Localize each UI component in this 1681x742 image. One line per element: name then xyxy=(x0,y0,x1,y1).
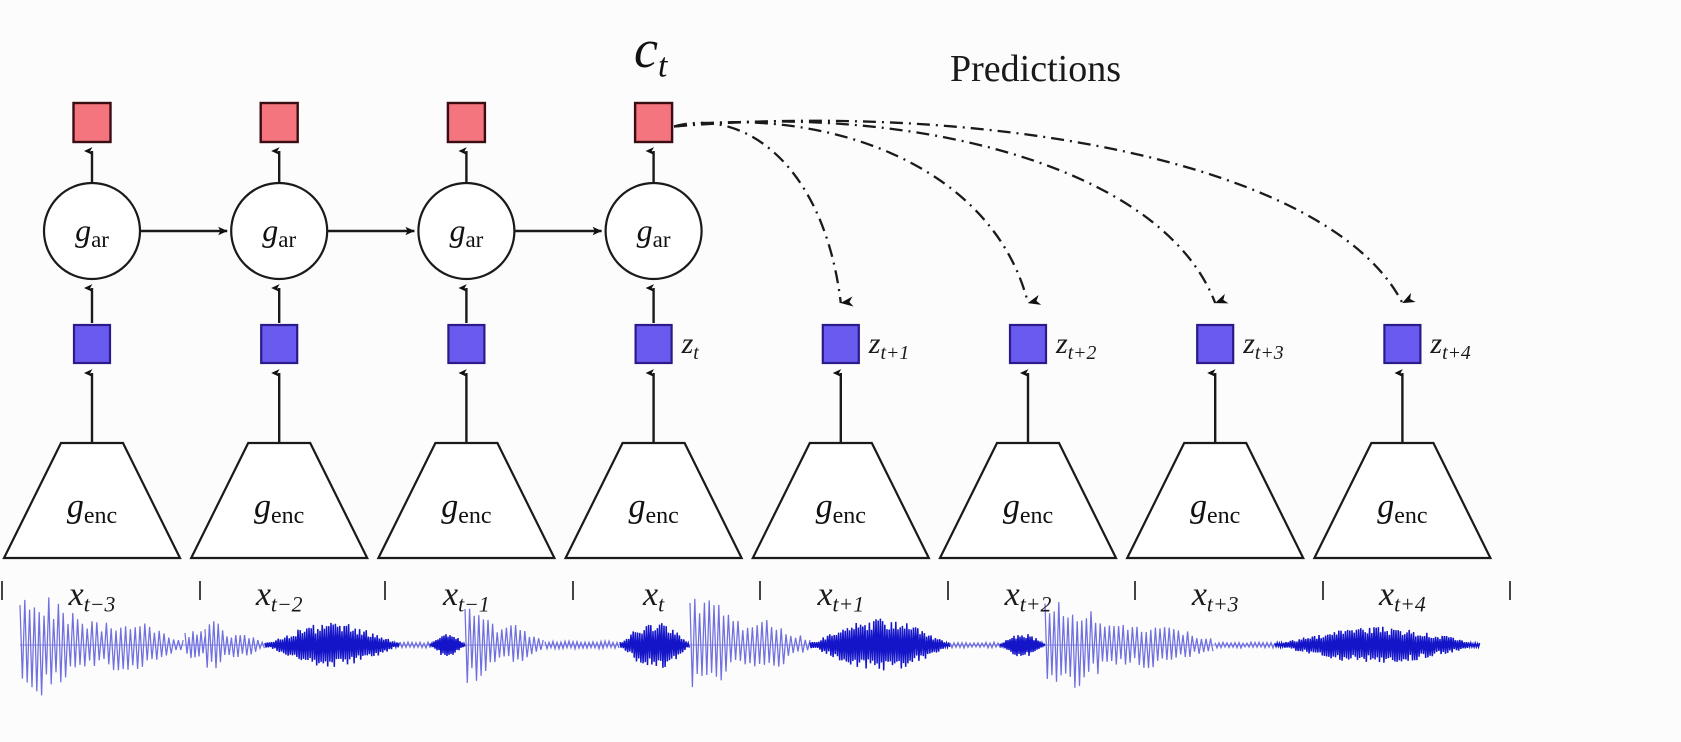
latent-label-symbol: z xyxy=(869,327,881,360)
latent-label-subscript: t+1 xyxy=(880,342,909,364)
waveform-segment-8 xyxy=(620,623,689,668)
latent-label-subscript: t+4 xyxy=(1442,342,1471,364)
latent-label-symbol: z xyxy=(1056,327,1068,360)
input-label-subscript: t−2 xyxy=(271,593,303,617)
input-label-2: xt−1 xyxy=(396,578,536,616)
audio-waveform xyxy=(0,0,1681,742)
input-label-6: xt+3 xyxy=(1145,578,1285,616)
ct-symbol: c xyxy=(634,19,658,79)
input-label-symbol: x xyxy=(1379,576,1394,613)
input-label-subscript: t−3 xyxy=(84,593,116,617)
predictions-label: Predictions xyxy=(950,50,1121,88)
input-label-1: xt−2 xyxy=(209,578,349,616)
latent-label-5: zt+2 xyxy=(1056,329,1096,364)
input-label-subscript: t+2 xyxy=(1020,593,1052,617)
waveform-segment-12 xyxy=(1000,634,1045,656)
latent-label-subscript: t+3 xyxy=(1255,342,1284,364)
input-label-0: xt−3 xyxy=(22,578,162,616)
input-label-5: xt+2 xyxy=(958,578,1098,616)
waveform-segment-6 xyxy=(465,609,543,683)
ct-subscript: t xyxy=(658,47,668,84)
latent-label-4: zt+1 xyxy=(869,329,909,364)
waveform-segment-10 xyxy=(810,619,950,671)
input-label-3: xt xyxy=(584,578,724,616)
context-vector-label: ct xyxy=(634,22,667,83)
input-label-symbol: x xyxy=(643,576,658,613)
latent-label-subscript: t+2 xyxy=(1068,342,1097,364)
latent-label-symbol: z xyxy=(1243,327,1255,360)
input-label-symbol: x xyxy=(817,576,832,613)
input-label-symbol: x xyxy=(1005,576,1020,613)
waveform-segment-7 xyxy=(545,641,619,649)
latent-label-6: zt+3 xyxy=(1243,329,1283,364)
input-label-symbol: x xyxy=(443,576,458,613)
input-label-subscript: t+1 xyxy=(833,593,865,617)
input-label-symbol: x xyxy=(69,576,84,613)
latent-label-symbol: z xyxy=(1430,327,1442,360)
input-label-subscript: t−1 xyxy=(458,593,490,617)
input-label-symbol: x xyxy=(256,576,271,613)
waveform-segment-5 xyxy=(430,634,465,656)
input-label-7: xt+4 xyxy=(1332,578,1472,616)
latent-label-subscript: t xyxy=(693,342,699,364)
latent-label-3: zt xyxy=(682,329,699,364)
cpc-architecture-figure: gencgargencgargencgargencgargencgencgenc… xyxy=(0,0,1681,742)
input-label-subscript: t+3 xyxy=(1207,593,1239,617)
waveform-segment-15 xyxy=(1275,627,1480,663)
waveform-segment-3 xyxy=(265,623,399,667)
input-label-subscript: t+4 xyxy=(1394,593,1426,617)
input-label-symbol: x xyxy=(1192,576,1207,613)
input-label-subscript: t xyxy=(658,593,664,617)
input-label-4: xt+1 xyxy=(771,578,911,616)
latent-label-7: zt+4 xyxy=(1430,329,1470,364)
latent-label-symbol: z xyxy=(682,327,694,360)
waveform-segment-11 xyxy=(950,642,1000,648)
